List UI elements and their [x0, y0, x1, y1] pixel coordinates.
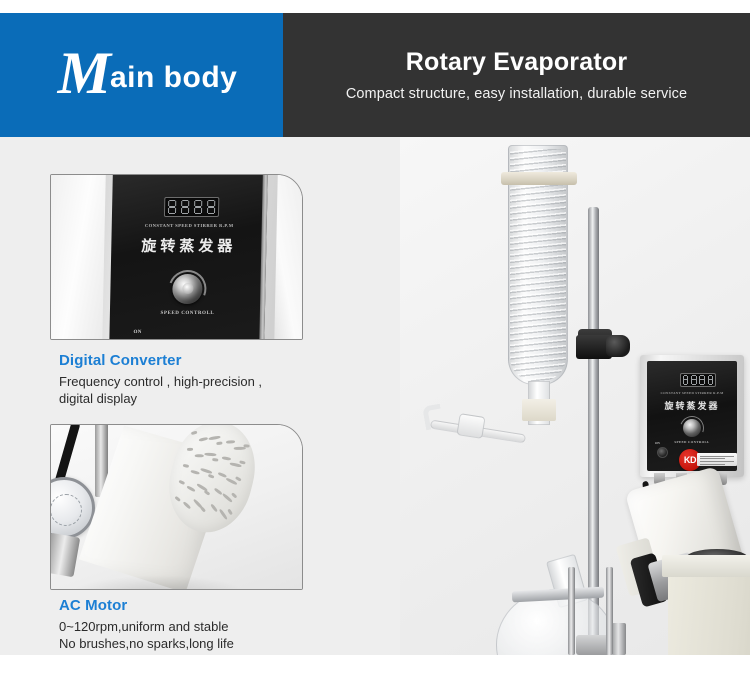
vent-slot — [187, 448, 193, 451]
knob-label: SPEED CONTROLL — [647, 440, 737, 444]
sticker-text-line — [700, 464, 725, 465]
vent-slot — [190, 470, 199, 475]
glass-hook — [422, 404, 444, 431]
vent-slot — [200, 506, 206, 512]
led-digit — [180, 200, 190, 215]
brand-initial: M — [58, 40, 110, 106]
support-rod — [606, 567, 613, 655]
brand-panel: Main body — [0, 13, 283, 137]
ac-motor-caption: AC Motor 0~120rpm,uniform and stable No … — [59, 597, 319, 652]
clamp-knob[interactable] — [606, 335, 630, 357]
power-switch-label: ON — [655, 441, 660, 445]
product-feature-banner: Main body Rotary Evaporator Compact stru… — [0, 0, 750, 679]
vent-slot — [212, 458, 218, 462]
panel-english-label: CONSTANT SPEED STIRRER R.P.M — [112, 223, 267, 228]
led-digit — [707, 375, 713, 385]
feature-line: Frequency control , high-precision , — [59, 373, 319, 390]
water-bath-top — [662, 555, 750, 577]
motor-shadow — [69, 575, 249, 589]
panel-face: CONSTANT SPEED STIRRER R.P.M 旋转蒸发器 SPEED… — [109, 175, 268, 340]
product-title: Rotary Evaporator — [406, 48, 628, 77]
panel-english-label: CONSTANT SPEED STIRRER R.P.M — [647, 391, 737, 395]
product-subtitle: Compact structure, easy installation, du… — [346, 86, 687, 102]
product-photo: CONSTANT SPEED STIRRER R.P.M 旋转蒸发器 SPEED… — [400, 137, 750, 655]
vent-slot — [235, 476, 242, 482]
sticker-text-line — [700, 458, 725, 459]
vent-slot — [200, 468, 212, 475]
condenser-joint — [522, 399, 556, 421]
stopcock-valve — [456, 413, 485, 439]
vent-slot — [191, 431, 198, 436]
title-panel: Rotary Evaporator Compact structure, eas… — [283, 13, 750, 137]
vent-slot — [183, 501, 192, 509]
ac-motor-photo — [51, 425, 302, 589]
vent-slot — [195, 454, 204, 457]
vent-slot — [199, 437, 208, 442]
vent-slot — [208, 474, 215, 479]
water-bath-body — [668, 577, 750, 655]
feature-title: Digital Converter — [59, 352, 319, 369]
vent-slot — [227, 509, 233, 516]
control-box-face: CONSTANT SPEED STIRRER R.P.M 旋转蒸发器 SPEED… — [647, 361, 737, 471]
support-rod — [568, 567, 575, 655]
stand-base-column — [612, 623, 626, 655]
sticker-text-line — [700, 461, 734, 462]
sticker-text-line — [700, 456, 734, 457]
bottom-spacer — [0, 655, 750, 679]
condenser-collar — [501, 172, 577, 185]
vent-slot — [178, 480, 185, 485]
power-switch[interactable] — [657, 447, 668, 458]
digital-converter-photo-card: CONSTANT SPEED STIRRER R.P.M 旋转蒸发器 SPEED… — [50, 174, 303, 340]
banner-header: Main body Rotary Evaporator Compact stru… — [0, 13, 750, 137]
vent-slot — [204, 453, 216, 457]
led-digit — [193, 200, 203, 215]
led-display — [164, 197, 219, 217]
feature-line: digital display — [59, 390, 319, 407]
feature-title: AC Motor — [59, 597, 319, 614]
vent-slot — [204, 490, 211, 496]
vent-slot — [183, 464, 189, 468]
digital-converter-caption: Digital Converter Frequency control , hi… — [59, 352, 319, 407]
spec-label-sticker — [697, 453, 737, 466]
led-digit — [682, 375, 688, 385]
feature-line: No brushes,no sparks,long life — [59, 635, 319, 652]
vent-slot — [174, 496, 181, 502]
led-digit — [206, 200, 216, 215]
vent-slot — [186, 485, 195, 492]
vent-slot — [208, 435, 220, 440]
panel-chinese-label: 旋转蒸发器 — [111, 235, 266, 256]
vent-slot — [243, 444, 249, 447]
led-digit — [167, 200, 177, 215]
vent-slot — [216, 441, 222, 445]
panel-chinese-label: 旋转蒸发器 — [647, 399, 737, 412]
control-panel-photo: CONSTANT SPEED STIRRER R.P.M 旋转蒸发器 SPEED… — [51, 175, 302, 339]
brand-rest: ain body — [110, 61, 237, 94]
knob-label: SPEED CONTROLL — [110, 311, 265, 316]
brand-title: Main body — [58, 43, 238, 103]
vent-slot — [231, 492, 237, 498]
led-display — [680, 373, 716, 387]
feature-line: 0~120rpm,uniform and stable — [59, 618, 319, 635]
vent-slot — [222, 456, 231, 461]
vent-slot — [210, 503, 218, 512]
led-digit — [699, 375, 705, 385]
ac-motor-photo-card — [50, 424, 303, 590]
vent-slot — [226, 440, 235, 444]
speed-control-knob[interactable] — [683, 419, 701, 437]
led-digit — [691, 375, 697, 385]
power-switch-label: ON — [133, 330, 141, 335]
